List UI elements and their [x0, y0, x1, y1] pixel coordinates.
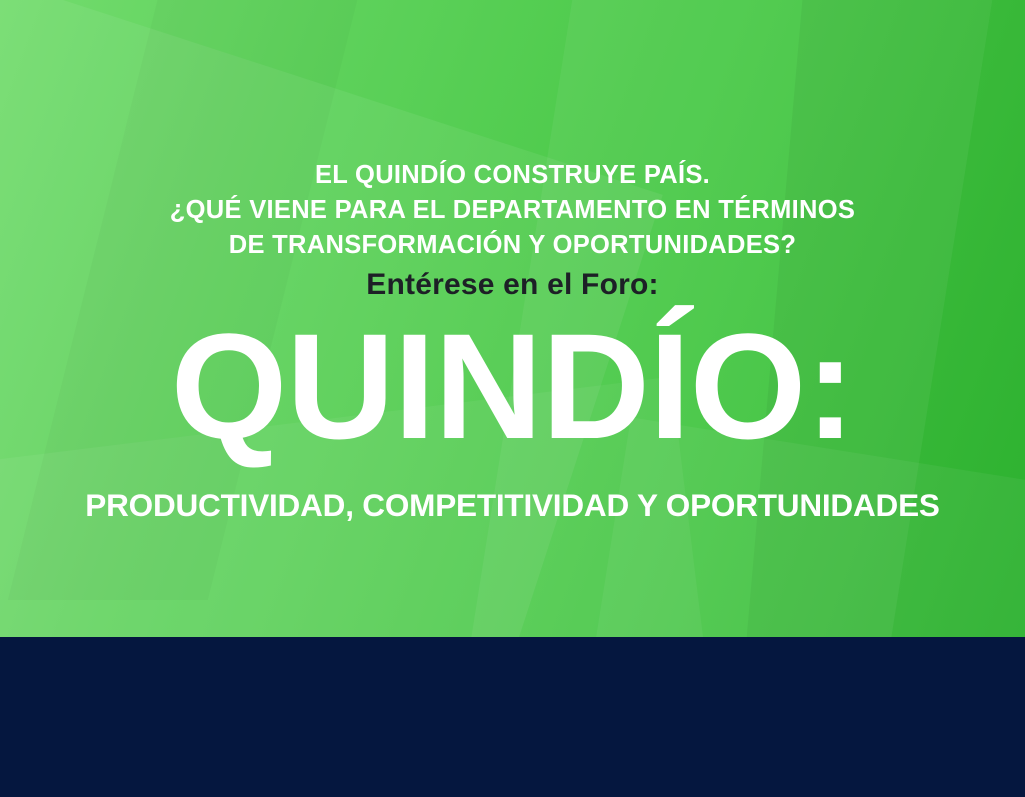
forum-invite-text: Entérese en el Foro: — [0, 268, 1025, 302]
kicker-line-1: EL QUINDÍO CONSTRUYE PAÍS. — [0, 158, 1025, 193]
kicker-line-2: ¿QUÉ VIENE PARA EL DEPARTAMENTO EN TÉRMI… — [0, 193, 1025, 228]
poster-root: EL QUINDÍO CONSTRUYE PAÍS. ¿QUÉ VIENE PA… — [0, 0, 1025, 797]
kicker-line-3: DE TRANSFORMACIÓN Y OPORTUNIDADES? — [0, 228, 1025, 263]
hero-content: EL QUINDÍO CONSTRUYE PAÍS. ¿QUÉ VIENE PA… — [0, 0, 1025, 637]
kicker-headline: EL QUINDÍO CONSTRUYE PAÍS. ¿QUÉ VIENE PA… — [0, 158, 1025, 263]
page-title: QUINDÍO: — [0, 306, 1025, 466]
hero-banner: EL QUINDÍO CONSTRUYE PAÍS. ¿QUÉ VIENE PA… — [0, 0, 1025, 637]
footer-logo-bar: EL TIEMPO Portafolio TÚ YO Somos uindío — [0, 637, 1025, 797]
page-subtitle: PRODUCTIVIDAD, COMPETITIVIDAD Y OPORTUNI… — [0, 487, 1025, 524]
